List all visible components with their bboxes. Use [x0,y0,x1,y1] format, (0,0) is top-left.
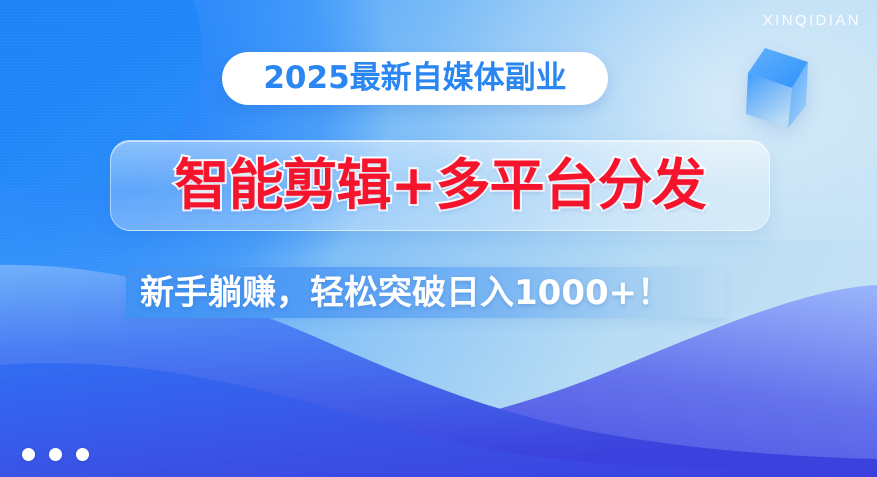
subheadline-text: 新手躺赚，轻松突破日入1000+！ [140,276,671,310]
promo-poster: XINQIDIAN 2025最新自媒体副业 智能剪辑+多平台分发 新手躺赚，轻松… [0,0,877,477]
subheadline-panel: 新手躺赚，轻松突破日入1000+！ [126,267,725,318]
watermark-text: XINQIDIAN [763,12,861,29]
dot-indicator [22,448,35,461]
dot-indicator-group [22,448,89,461]
main-headline-panel: 智能剪辑+多平台分发 [110,140,770,231]
dot-indicator [76,448,89,461]
main-headline-text: 智能剪辑+多平台分发 [174,158,705,213]
dot-indicator [49,448,62,461]
cube-3d-icon [736,44,820,134]
headline-badge-text: 2025最新自媒体副业 [263,63,566,94]
headline-badge: 2025最新自媒体副业 [222,52,608,105]
